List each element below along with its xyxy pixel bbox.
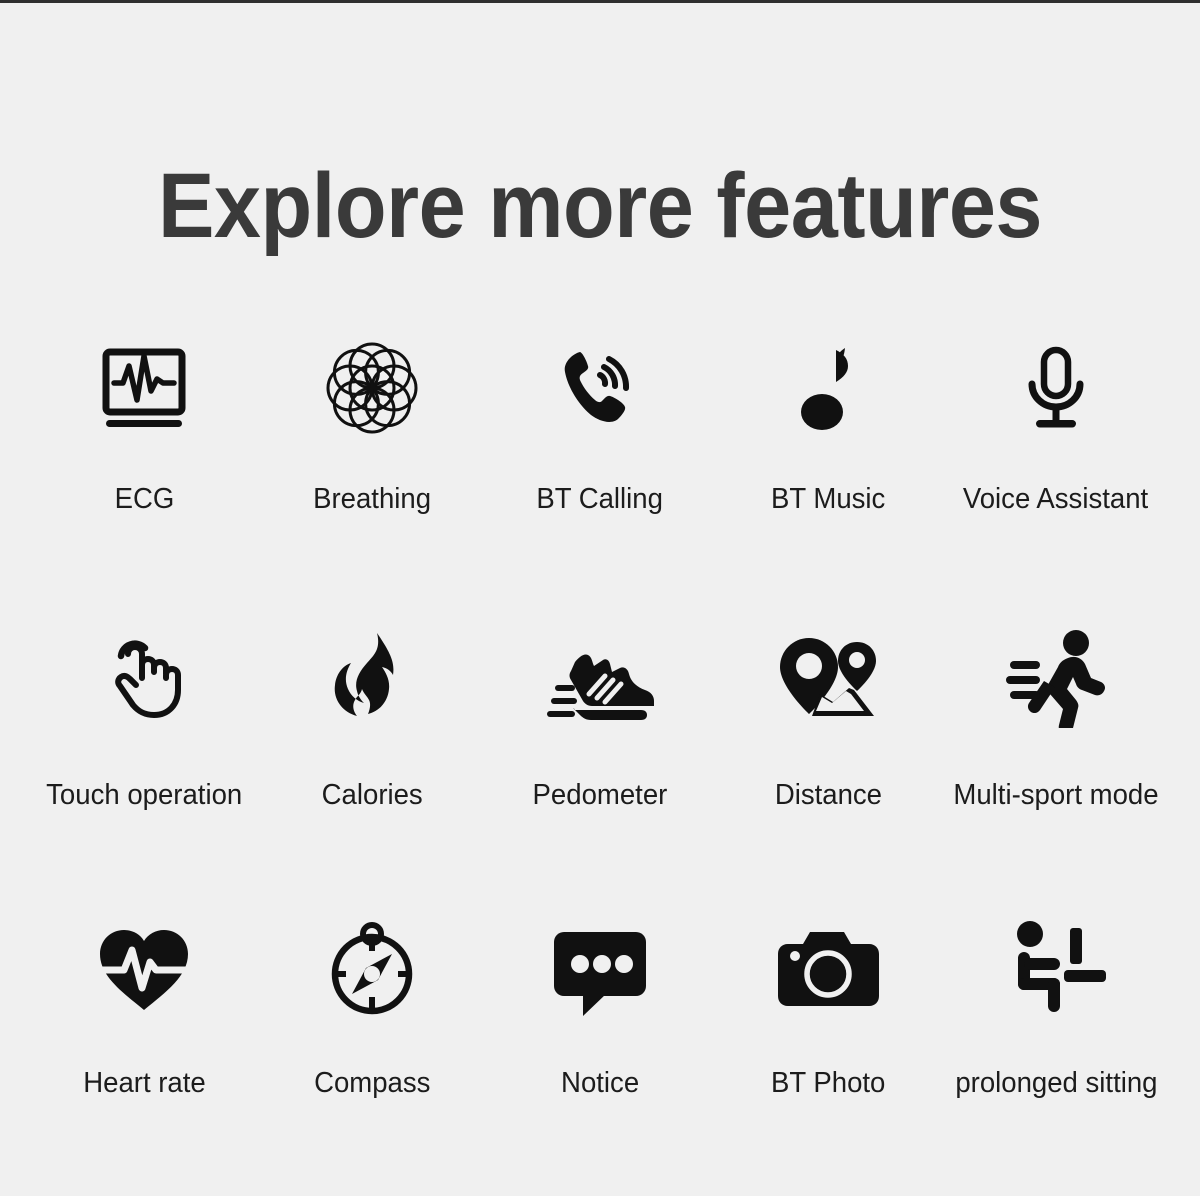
feature-label: BT Music — [771, 484, 885, 516]
sitting-person-icon — [996, 908, 1116, 1028]
feature-label: Breathing — [313, 484, 431, 516]
feature-item-multi-sport-mode[interactable]: Multi-sport mode — [942, 610, 1170, 900]
running-shoe-icon — [540, 618, 660, 738]
speech-bubble-icon — [540, 908, 660, 1028]
feature-item-pedometer[interactable]: Pedometer — [486, 610, 714, 900]
feature-label: Touch operation — [46, 780, 242, 812]
map-pins-route-icon — [768, 618, 888, 738]
feature-item-notice[interactable]: Notice — [486, 900, 714, 1190]
feature-label: Pedometer — [533, 780, 668, 812]
feature-item-bt-music[interactable]: BT Music — [714, 320, 942, 610]
feature-item-breathing[interactable]: Breathing — [258, 320, 486, 610]
feature-label: Heart rate — [83, 1068, 206, 1100]
feature-item-distance[interactable]: Distance — [714, 610, 942, 900]
feature-item-bt-photo[interactable]: BT Photo — [714, 900, 942, 1190]
microphone-icon — [996, 328, 1116, 448]
feature-label: BT Photo — [771, 1068, 885, 1100]
tap-hand-icon — [84, 618, 204, 738]
heart-pulse-icon — [84, 908, 204, 1028]
feature-item-touch-operation[interactable]: Touch operation — [30, 610, 258, 900]
page-title: Explore more features — [48, 160, 1152, 252]
feature-item-prolonged-sitting[interactable]: prolonged sitting — [942, 900, 1170, 1190]
feature-item-ecg[interactable]: ECG — [30, 320, 258, 610]
feature-label: Calories — [321, 780, 422, 812]
feature-label: Compass — [314, 1068, 430, 1100]
flame-icon — [312, 618, 432, 738]
feature-label: Voice Assistant — [963, 484, 1148, 516]
ecg-monitor-icon — [84, 328, 204, 448]
features-page: Explore more features ECG — [0, 0, 1200, 1196]
flower-of-life-icon — [312, 328, 432, 448]
feature-label: Multi-sport mode — [953, 780, 1158, 812]
feature-item-heart-rate[interactable]: Heart rate — [30, 900, 258, 1190]
feature-item-compass[interactable]: Compass — [258, 900, 486, 1190]
feature-item-bt-calling[interactable]: BT Calling — [486, 320, 714, 610]
camera-icon — [768, 908, 888, 1028]
running-person-icon — [996, 618, 1116, 738]
features-grid: ECG Bre — [30, 320, 1170, 1190]
feature-label: Notice — [561, 1068, 639, 1100]
music-note-icon — [768, 328, 888, 448]
feature-label: prolonged sitting — [955, 1068, 1157, 1100]
feature-label: ECG — [114, 484, 174, 516]
feature-label: Distance — [774, 780, 881, 812]
compass-icon — [312, 908, 432, 1028]
feature-item-calories[interactable]: Calories — [258, 610, 486, 900]
phone-call-icon — [540, 328, 660, 448]
feature-label: BT Calling — [537, 484, 664, 516]
feature-item-voice-assistant[interactable]: Voice Assistant — [942, 320, 1170, 610]
